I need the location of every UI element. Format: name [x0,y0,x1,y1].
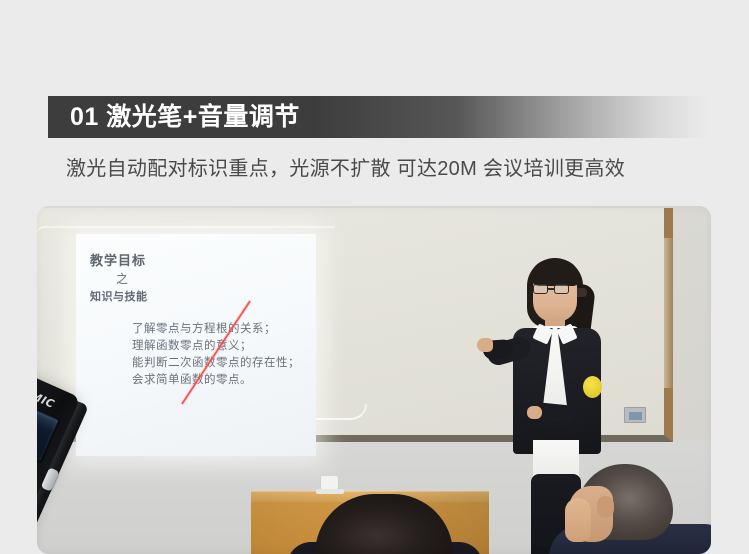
slide-connector: 之 [116,270,128,287]
audience-right-hand [565,498,591,542]
cup-saucer [316,489,344,494]
slide-bullet: 能判断二次函数零点的存在性； [132,354,300,371]
slide-subtitle: 知识与技能 [90,288,148,304]
product-feature-page: 01 激光笔+音量调节 激光自动配对标识重点，光源不扩散 可达20M 会议培训更… [0,0,749,554]
feature-title-banner: 01 激光笔+音量调节 [48,96,708,138]
device-brand-logo: MIC [37,389,56,411]
slide-bullet: 理解函数零点的意义； [132,337,300,354]
wall-switch-plate [624,407,646,423]
slide-bullet: 会求简单函数的零点。 [132,371,300,388]
presenter-hair-front [531,260,579,286]
presenter-glasses [533,284,573,294]
feature-subtitle-text: 激光自动配对标识重点，光源不扩散 可达20M 会议培训更高效 [66,152,625,181]
slide-bullet-list: 了解零点与方程根的关系； 理解函数零点的意义； 能判断二次函数零点的存在性； 会… [132,320,300,388]
presenter-pointing-hand [477,338,493,352]
feature-title-text: 01 激光笔+音量调节 [48,105,300,130]
product-scene-photo: 教学目标 之 知识与技能 了解零点与方程根的关系； 理解函数零点的意义； 能判断… [37,206,711,554]
slide-title: 教学目标 [90,250,146,269]
presenter-yellow-armband [583,376,602,398]
presenter-resting-hand [527,406,542,419]
whiteboard-frame-highlight [664,238,673,388]
projection-screen: 教学目标 之 知识与技能 了解零点与方程根的关系； 理解函数零点的意义； 能判断… [76,234,316,456]
audience-right-ear [597,496,614,518]
slide-bullet: 了解零点与方程根的关系； [132,320,300,337]
